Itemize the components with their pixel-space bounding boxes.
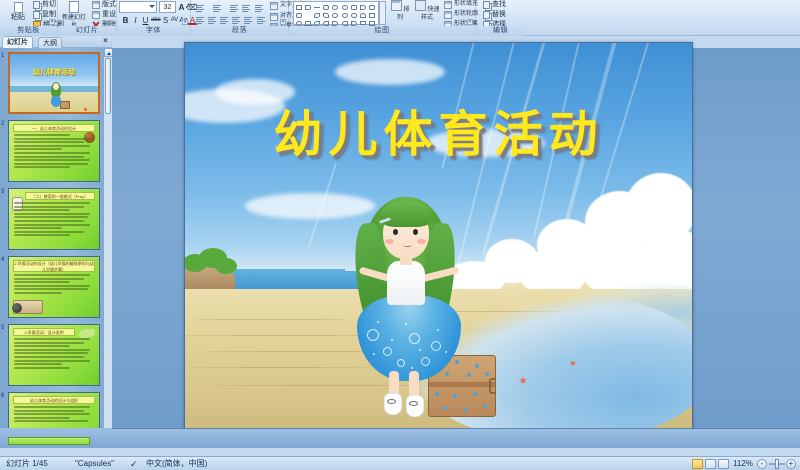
thumbnail-number: 4 [1,257,4,263]
thumb-title-box: 3.早操活动：设计说明 [13,328,75,336]
font-size-value: 32 [164,4,172,11]
slide-canvas[interactable]: ✶ ✶ [184,42,693,434]
thumbnail-image: 一、幼儿体育活动的设计 [8,120,100,182]
thumbnail-image: 幼儿体育活动 [8,52,100,114]
paste-label: 粘贴 [11,14,25,21]
shape-more-1[interactable] [368,3,376,11]
thumb-title-text: 幼儿体育活动 [10,67,98,77]
font-name-combo[interactable] [119,1,157,13]
language-indicator[interactable]: 中文(简体，中国) [146,459,207,469]
columns-button[interactable] [255,14,266,25]
thumb-beach-art: 幼儿体育活动 [10,54,98,112]
arrange-icon [391,0,402,11]
tab-slides[interactable]: 幻灯片 [2,36,33,48]
shape-dash[interactable] [368,11,376,19]
thumb-bird-image [79,329,95,338]
slide-work-area[interactable]: ✶ ✶ [112,48,800,448]
theme-name[interactable]: "Capsules" [75,459,114,469]
slideshow-view-button[interactable] [718,459,729,469]
normal-view-button[interactable] [692,459,703,469]
thumbnail-number: 3 [1,189,4,195]
increase-indent-button[interactable] [240,2,251,13]
white-top [387,261,425,305]
thumb-body [14,338,94,382]
thumbnail-slide-2[interactable]: 2 一、幼儿体育活动的设计 [8,120,100,182]
thumbnail-number: 2 [1,121,4,127]
starfish: ✶ [517,375,529,387]
thumb-starfish [84,108,87,111]
shape-donut[interactable] [341,11,349,19]
align-left-button[interactable] [194,14,205,25]
replace-icon [483,11,490,19]
powerpoint-window: 粘贴 剪切 复制 格式刷 剪贴板 ▾ [0,0,800,470]
thumb-title-box: 一、幼儿体育活动的设计 [13,124,95,132]
shape-roundrect[interactable] [295,11,303,19]
shape-chevron[interactable] [359,3,367,11]
thumb-body [14,134,94,178]
status-bar: 幻灯片 1/45 "Capsules" ✓ 中文(简体，中国) 112% - + [0,456,800,470]
eye-left [393,229,398,235]
justify-button[interactable] [230,14,241,25]
bullets-button[interactable] [194,2,205,13]
thumb-content-art: （二）教案的一般格式（Prep） [9,189,99,249]
blush-right [417,239,426,244]
shape-arrow[interactable] [304,3,312,11]
thumb-content-art: 一、幼儿体育活动的设计 [9,121,99,181]
shape-rect[interactable] [295,3,303,11]
group-label-clipboard: 剪贴板 [0,26,57,36]
thumbnail-slide-1[interactable]: 1 幼儿体育活动 [8,52,100,114]
slide-panel-tabs: 幻灯片 大纲 × [0,36,112,48]
suitcase-handle [489,378,496,394]
hair-bangs [380,201,432,227]
group-label-font: 字体 [117,26,190,36]
thumb-title-text: 一、幼儿体育活动的设计 [14,125,94,133]
thumbnail-scrollbar[interactable] [103,48,112,448]
thumbnail-footer-strip [8,437,90,445]
numbering-button[interactable] [211,2,222,13]
cut-icon [33,1,40,9]
ribbon-group-drawing: 排列 快速样式 形状填充 形状轮廓 形状效果 [289,0,476,36]
slide-title-text[interactable]: 幼儿体育活动 [185,95,692,166]
paragraph-dialog-launcher[interactable]: ▾ [280,19,286,25]
scroll-up-button[interactable] [104,48,112,57]
paste-button[interactable]: 粘贴 [3,1,33,22]
paste-icon [14,2,23,13]
thumb-content-art: 3.早操活动：设计说明 [9,325,99,385]
shape-circle[interactable] [341,3,349,11]
thumbnail-image: 2.早操活动的设计（幼儿早操的编排原则与幼儿早操步骤） [8,256,100,318]
quick-styles-button[interactable]: 快速样式 [413,0,441,22]
ribbon-group-slides: 新建幻灯片 版式 重设 删除 幻灯片 [58,0,117,36]
shape-ellipse2[interactable] [331,11,339,19]
group-label-editing: 编辑 [476,26,525,36]
thumbnail-slide-5[interactable]: 5 3.早操活动：设计说明 [8,324,100,386]
cloud [335,59,445,85]
thumbnail-number: 5 [1,325,4,331]
notes-pane[interactable] [112,428,800,448]
zoom-out-button[interactable]: - [757,459,767,469]
group-label-drawing: 绘图 [289,26,475,36]
thumbnail-image: 3.早操活动：设计说明 [8,324,100,386]
align-center-button[interactable] [206,14,217,25]
font-spacer [174,1,176,3]
thumbnail-slide-4[interactable]: 4 2.早操活动的设计（幼儿早操的编排原则与幼儿早操步骤） [8,256,100,318]
shape-fill-icon [444,1,452,9]
tab-outline[interactable]: 大纲 [38,37,62,48]
arrange-button[interactable]: 排列 [388,0,412,22]
thumb-title-box: 2.早操活动的设计（幼儿早操的编排原则与幼儿早操步骤） [13,260,95,272]
ribbon: 粘贴 剪切 复制 格式刷 剪贴板 ▾ [0,0,800,36]
thumb-title-box: 幼儿体育活动的设计与组织 [13,396,95,404]
slide-sorter-view-button[interactable] [705,459,716,469]
new-slide-icon [69,1,79,13]
copy-icon [33,11,40,19]
thumb-title-text: 3.早操活动：设计说明 [14,329,74,337]
zoom-in-button[interactable]: + [786,459,796,469]
island [184,248,241,290]
mouth [403,243,412,247]
spellcheck-icon[interactable]: ✓ [130,459,138,469]
thumbnail-number: 6 [1,393,4,399]
slide-thumbnail-panel[interactable]: 1 幼儿体育活动 2 一、幼儿体育活 [0,48,112,448]
zoom-level[interactable]: 112% [733,459,753,469]
thumb-title-text: 幼儿体育活动的设计与组织 [14,397,94,405]
sock-bow [387,399,396,404]
shape-connector[interactable] [322,3,330,11]
blue-dress [357,295,461,381]
align-right-button[interactable] [218,14,229,25]
drawing-dialog-launcher[interactable]: ▾ [467,19,473,25]
layout-icon [92,1,100,9]
island-tree [215,258,237,274]
font-dialog-launcher[interactable]: ▾ [182,19,188,25]
thumb-title-box: （二）教案的一般格式（Prep） [25,192,95,200]
shape-oval[interactable] [331,3,339,11]
close-panel-button[interactable]: × [101,37,110,46]
sock-bow [409,401,418,406]
shape-bent[interactable] [322,11,330,19]
girl-illustration [353,195,469,425]
eye-right [413,229,418,235]
thumb-title-text: （二）教案的一般格式（Prep） [26,193,94,201]
thumbnail-number: 1 [1,53,4,59]
blush-left [385,239,394,244]
shape-callout[interactable] [350,11,358,19]
zoom-slider-knob[interactable] [775,459,779,469]
thumb-wheel-image [12,303,22,313]
thumb-content-art: 2.早操活动的设计（幼儿早操的编排原则与幼儿早操步骤） [9,257,99,317]
slide-counter[interactable]: 幻灯片 1/45 [6,459,48,469]
scrollbar-thumb[interactable] [105,58,111,114]
distribute-button[interactable] [242,14,253,25]
thumb-body [14,202,94,246]
reset-icon [92,11,100,19]
shape-outline-icon [444,11,452,19]
find-icon [483,1,490,9]
shape-curve[interactable] [313,11,321,19]
quick-styles-icon [415,0,426,11]
chevron-down-icon [149,5,155,8]
ribbon-group-editing: 查找 替换 选择 编辑 [476,0,525,36]
thumb-title-text: 2.早操活动的设计（幼儿早操的编排原则与幼儿早操步骤） [14,261,94,273]
sock-left [384,393,402,415]
ribbon-group-paragraph: 文字方向 对齐文本 转换为 SmartArt 段落 ▾ [191,0,289,36]
group-label-slides: 幻灯片 [58,26,116,36]
clipboard-dialog-launcher[interactable]: ▾ [49,19,55,25]
thumbnail-image: （二）教案的一般格式（Prep） [8,188,100,250]
group-label-paragraph: 段落 [191,26,288,36]
shapes-gallery[interactable] [293,1,379,25]
align-text-icon [270,13,278,21]
thumbnail-slide-3[interactable]: 3 （二）教案的一般格式（Prep） [8,188,100,250]
decrease-indent-button[interactable] [228,2,239,13]
shape-triangle[interactable] [304,11,312,19]
shape-star[interactable] [359,11,367,19]
shape-line[interactable] [313,3,321,11]
ribbon-group-font: 32 A A B I U abc S AV Aa A ⌫ 字体 ▾ [117,0,191,36]
thumb-girl [50,82,62,112]
text-direction-icon [270,2,278,10]
starfish: ✶ [567,359,579,371]
line-spacing-button[interactable] [253,2,264,13]
sock-right [406,395,424,417]
shape-pentagon[interactable] [350,3,358,11]
ribbon-group-clipboard: 粘贴 剪切 复制 格式刷 剪贴板 ▾ [0,0,58,36]
shapes-gallery-scrollbar[interactable] [379,1,386,25]
